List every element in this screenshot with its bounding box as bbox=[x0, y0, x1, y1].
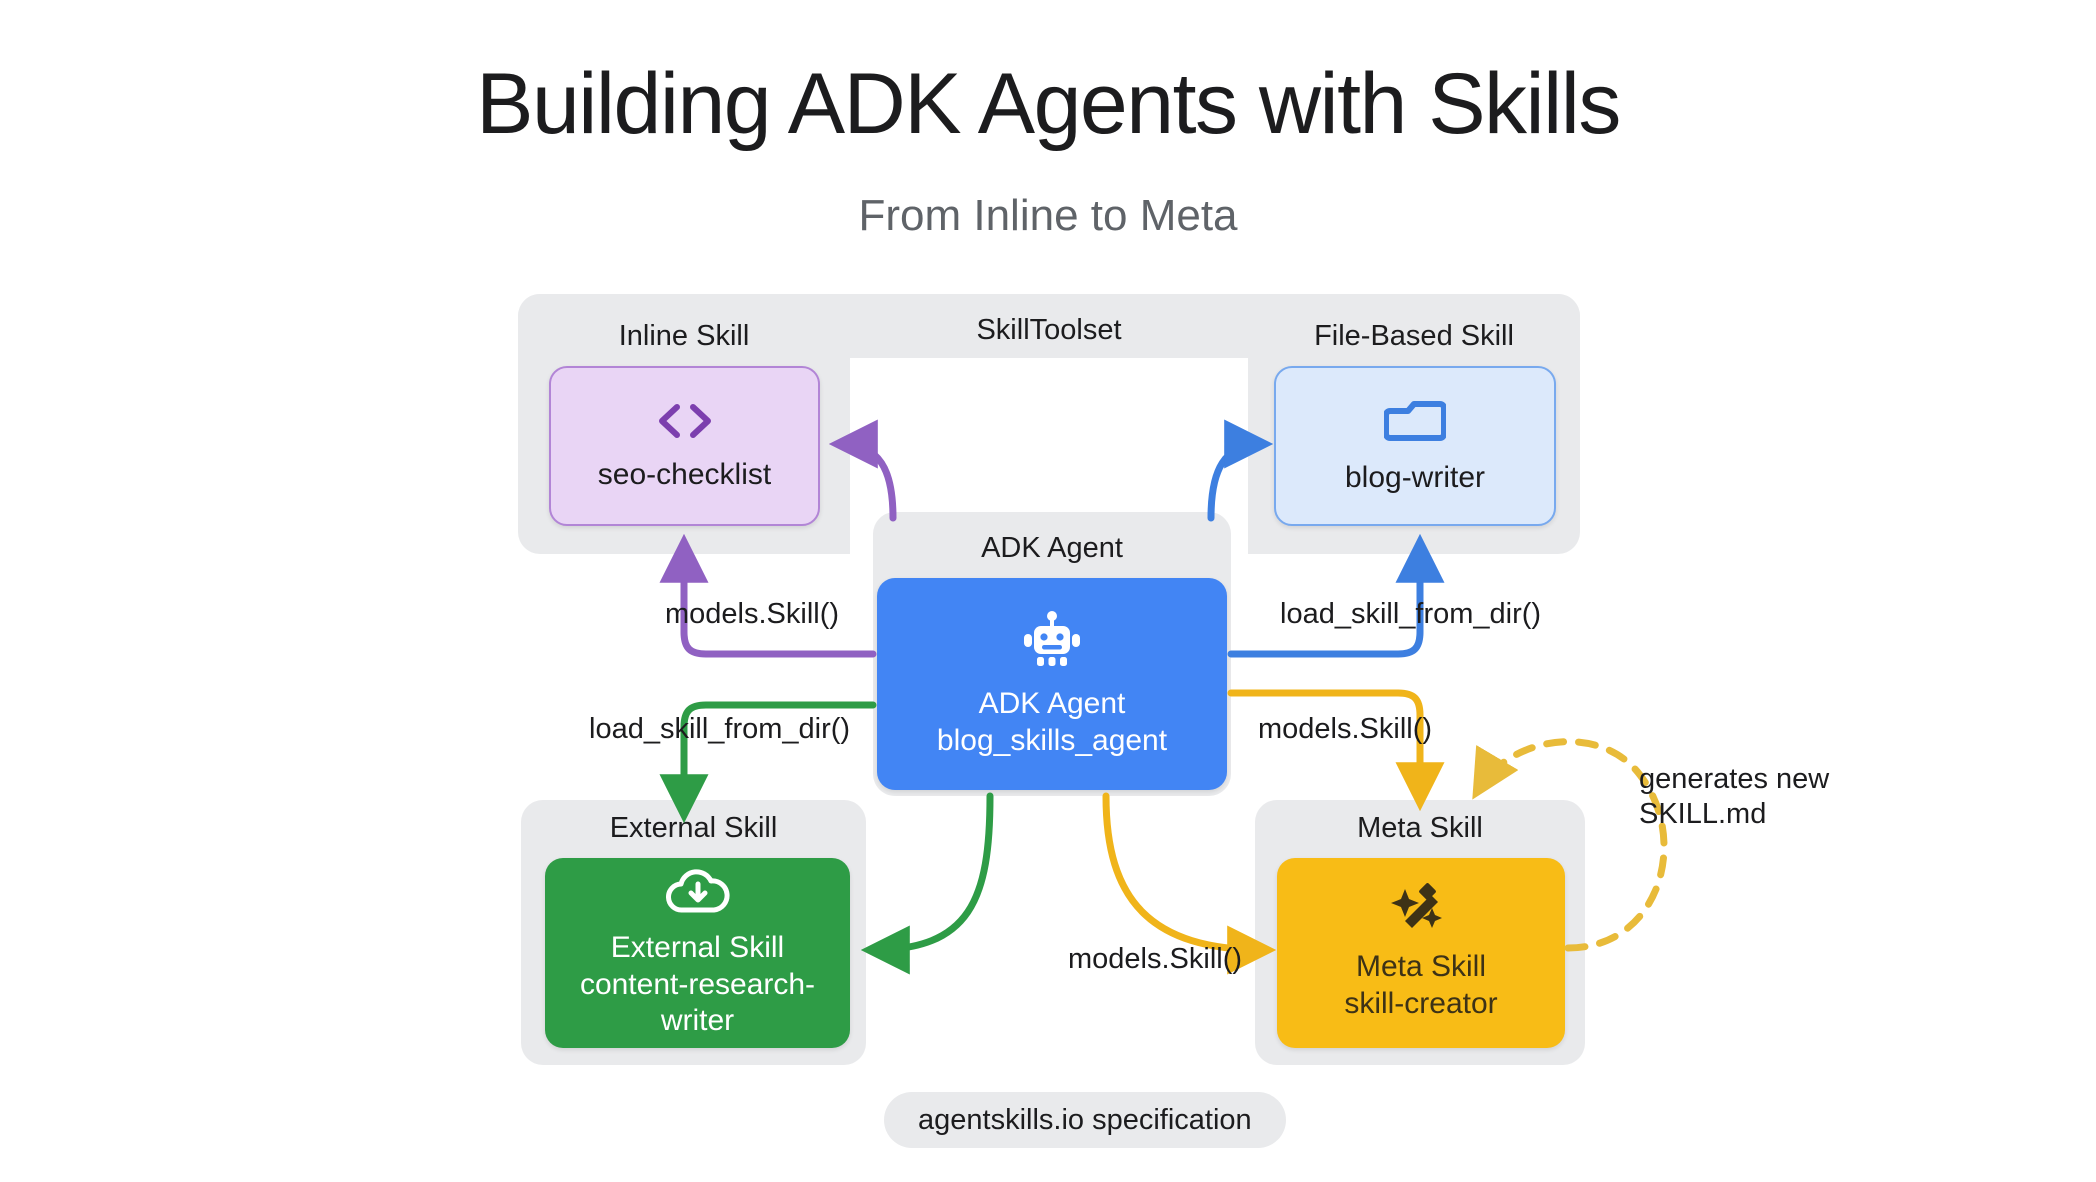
card-seo-checklist[interactable]: seo-checklist bbox=[549, 366, 820, 526]
edge-label-inline-models-skill: models.Skill() bbox=[665, 597, 839, 632]
card-label-external-skill-line1: External Skill bbox=[611, 931, 784, 964]
card-label-meta-skill-line1: Meta Skill bbox=[1356, 950, 1486, 983]
group-label-inline-skill: Inline Skill bbox=[518, 320, 850, 353]
card-label-seo-checklist: seo-checklist bbox=[598, 457, 771, 494]
edge-label-external-load-skill-from-dir: load_skill_from_dir() bbox=[589, 712, 850, 747]
edge-label-meta-models-skill-top: models.Skill() bbox=[1258, 712, 1432, 747]
edge-label-file-load-skill-from-dir: load_skill_from_dir() bbox=[1280, 597, 1541, 632]
card-label-adk-agent: ADK Agent blog_skills_agent bbox=[937, 686, 1167, 759]
card-adk-agent[interactable]: ADK Agent blog_skills_agent bbox=[877, 578, 1227, 790]
robot-icon bbox=[1020, 608, 1084, 672]
cloud-download-icon bbox=[665, 866, 731, 916]
magic-wand-icon bbox=[1389, 883, 1453, 935]
folder-icon bbox=[1384, 396, 1446, 446]
card-external-skill[interactable]: External Skill content-research-writer bbox=[545, 858, 850, 1048]
page-title: Building ADK Agents with Skills bbox=[0, 58, 2096, 151]
card-label-meta-skill: Meta Skill skill-creator bbox=[1344, 949, 1497, 1022]
edge-label-meta-models-skill-bottom: models.Skill() bbox=[1068, 942, 1242, 977]
diagram-canvas: Building ADK Agents with Skills From Inl… bbox=[0, 0, 2096, 1182]
code-brackets-icon bbox=[652, 399, 718, 443]
edge-label-generates-new-skill-md: generates new SKILL.md bbox=[1639, 762, 1869, 833]
page-subtitle: From Inline to Meta bbox=[0, 192, 2096, 240]
group-label-external-skill: External Skill bbox=[521, 812, 866, 845]
edge-agent-to-external bbox=[872, 796, 990, 950]
card-label-meta-skill-line2: skill-creator bbox=[1344, 986, 1497, 1023]
card-label-blog-writer: blog-writer bbox=[1345, 460, 1485, 497]
card-label-adk-agent-line2: blog_skills_agent bbox=[937, 723, 1167, 760]
card-label-adk-agent-line1: ADK Agent bbox=[979, 687, 1126, 720]
footer-spec-pill[interactable]: agentskills.io specification bbox=[884, 1092, 1286, 1148]
group-label-adk-agent: ADK Agent bbox=[873, 532, 1231, 565]
card-label-external-skill: External Skill content-research-writer bbox=[545, 930, 850, 1040]
generates-line2: SKILL.md bbox=[1639, 798, 1766, 830]
group-label-file-based-skill: File-Based Skill bbox=[1248, 320, 1580, 353]
edge-meta-models-skill-bottom bbox=[1106, 796, 1265, 950]
card-meta-skill[interactable]: Meta Skill skill-creator bbox=[1277, 858, 1565, 1048]
card-label-external-skill-line2: content-research-writer bbox=[545, 967, 850, 1040]
group-label-meta-skill: Meta Skill bbox=[1255, 812, 1585, 845]
generates-line1: generates new bbox=[1639, 763, 1829, 795]
card-blog-writer[interactable]: blog-writer bbox=[1274, 366, 1556, 526]
